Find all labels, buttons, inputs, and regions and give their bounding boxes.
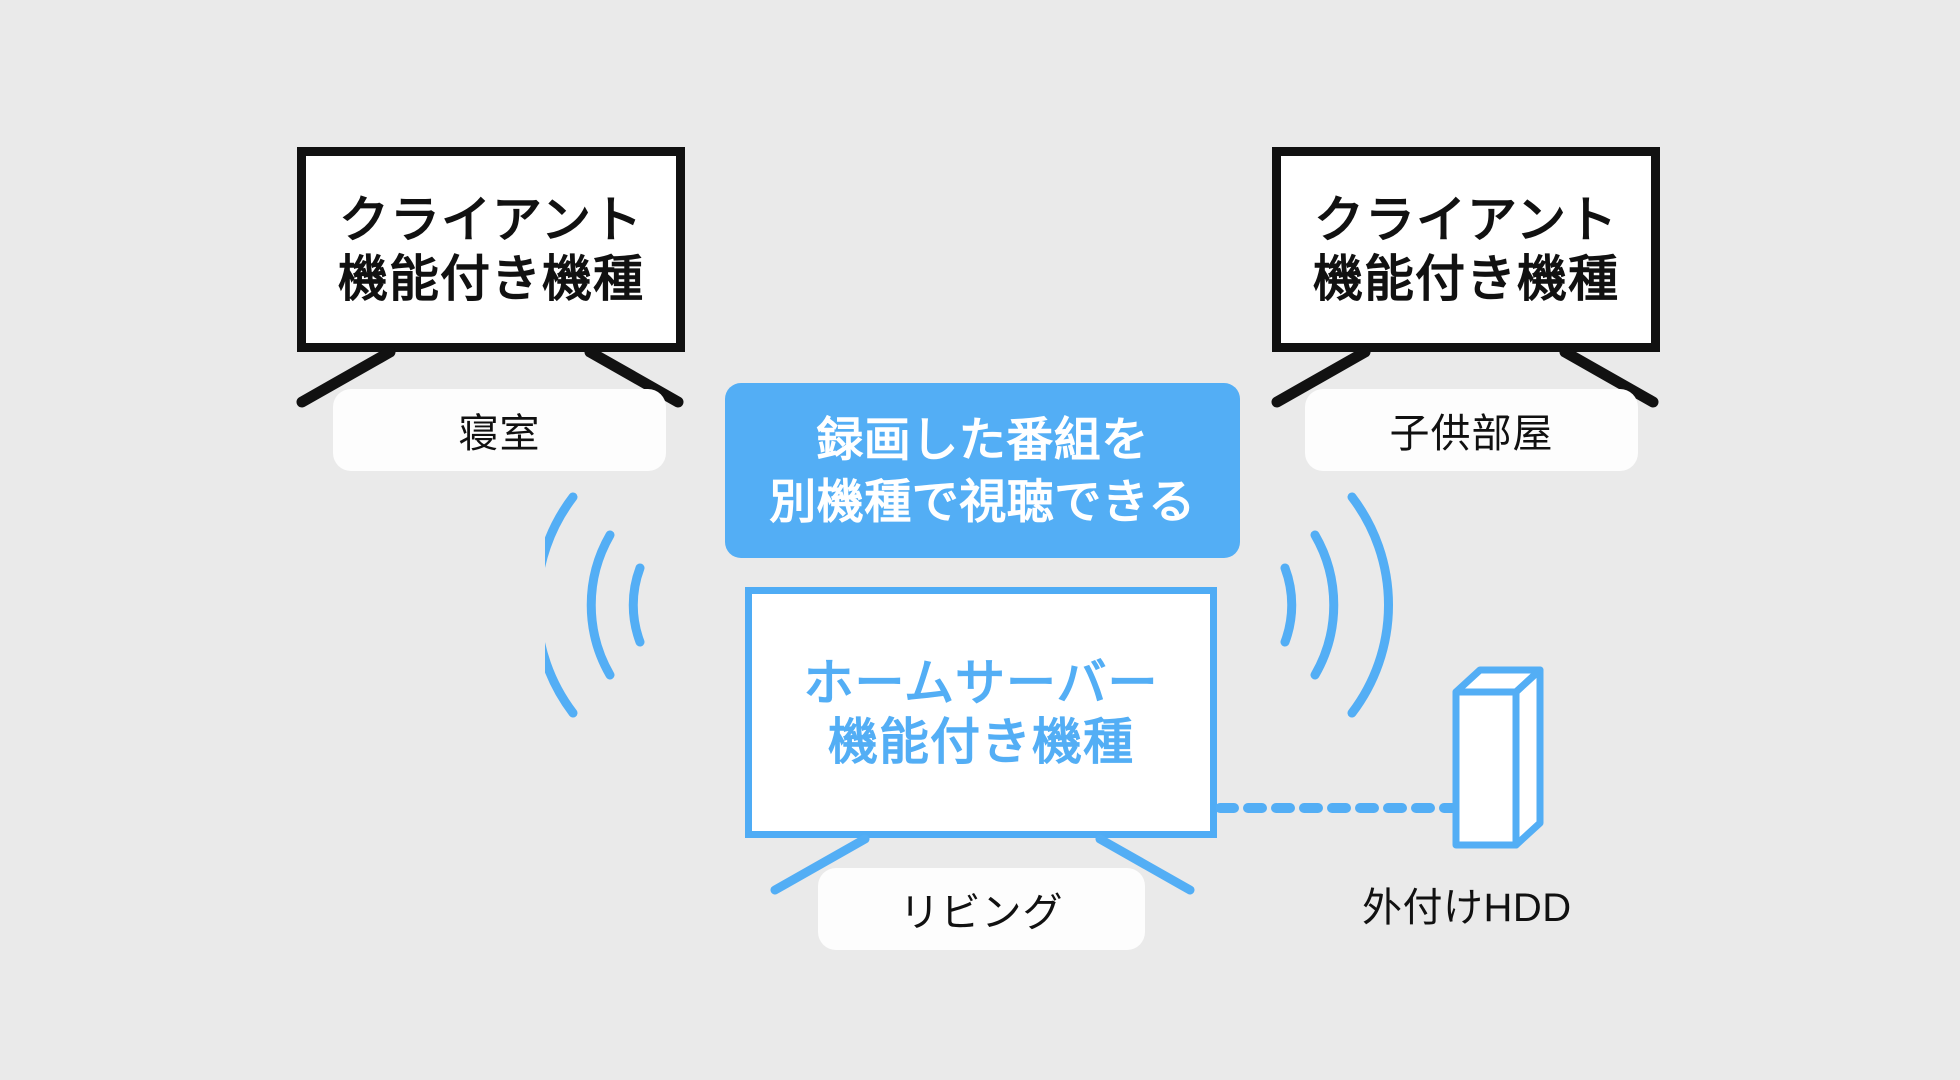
living-tv-title-line2: 機能付き機種 xyxy=(828,713,1134,772)
bedroom-tv-title-line1: クライアント xyxy=(339,191,643,250)
bedroom-room-label: 寝室 xyxy=(333,389,666,471)
living-room-label: リビング xyxy=(818,868,1145,950)
living-tv-title-line1: ホームサーバー xyxy=(804,654,1159,713)
wifi-right-icon xyxy=(1237,470,1417,740)
wifi-left-icon xyxy=(545,470,725,740)
diagram-canvas: クライアント 機能付き機種 寝室 クライアント 機能付き機種 子供部屋 録画した… xyxy=(0,0,1960,1080)
external-hdd-icon xyxy=(1440,660,1570,860)
living-room-label-text: リビング xyxy=(900,880,1064,938)
bedroom-room-label-text: 寝室 xyxy=(459,401,541,459)
callout-line-1: 録画した番組を xyxy=(816,409,1149,470)
external-hdd-label: 外付けHDD xyxy=(1362,875,1572,933)
kids-room-client-tv: クライアント 機能付き機種 xyxy=(1272,147,1660,352)
hdd-dashed-connector xyxy=(1216,796,1466,820)
bedroom-tv-screen: クライアント 機能付き機種 xyxy=(297,147,685,352)
kids-room-label: 子供部屋 xyxy=(1305,389,1638,471)
callout-line-2: 別機種で視聴できる xyxy=(769,471,1196,532)
bedroom-tv-title-line2: 機能付き機種 xyxy=(338,250,644,309)
kids-room-tv-title-line1: クライアント xyxy=(1314,191,1618,250)
kids-room-tv-screen: クライアント 機能付き機種 xyxy=(1272,147,1660,352)
living-home-server-tv: ホームサーバー 機能付き機種 xyxy=(745,587,1217,838)
bedroom-client-tv: クライアント 機能付き機種 xyxy=(297,147,685,352)
kids-room-tv-title-line2: 機能付き機種 xyxy=(1313,250,1619,309)
external-hdd-label-text: 外付けHDD xyxy=(1362,886,1572,930)
feature-callout-box: 録画した番組を 別機種で視聴できる xyxy=(725,383,1240,558)
living-tv-screen: ホームサーバー 機能付き機種 xyxy=(745,587,1217,838)
kids-room-label-text: 子供部屋 xyxy=(1390,401,1554,459)
